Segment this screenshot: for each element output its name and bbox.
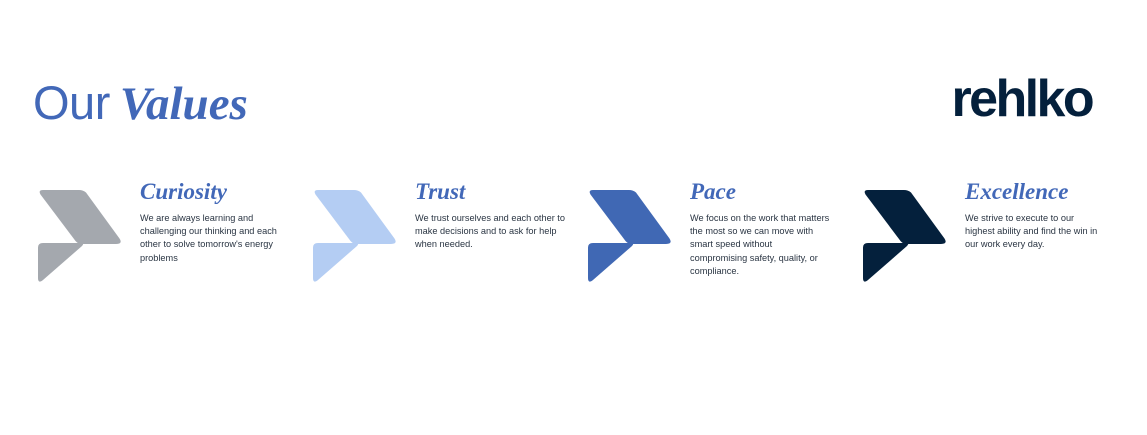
- value-title: Trust: [415, 178, 567, 205]
- value-text-trust: Trust We trust ourselves and each other …: [415, 178, 567, 252]
- value-description: We focus on the work that matters the mo…: [690, 212, 830, 278]
- values-list: Curiosity We are always learning and cha…: [0, 178, 1147, 298]
- page-title-emphasis: Values: [120, 78, 248, 130]
- value-description: We trust ourselves and each other to mak…: [415, 212, 567, 252]
- value-text-curiosity: Curiosity We are always learning and cha…: [140, 178, 292, 265]
- rehlko-chevron-icon: [580, 183, 676, 285]
- rehlko-chevron-icon: [30, 183, 126, 285]
- value-description: We are always learning and challenging o…: [140, 212, 292, 265]
- value-title: Pace: [690, 178, 830, 205]
- value-card-pace: Pace We focus on the work that matters t…: [572, 178, 847, 298]
- value-card-curiosity: Curiosity We are always learning and cha…: [22, 178, 297, 298]
- value-text-excellence: Excellence We strive to execute to our h…: [965, 178, 1105, 252]
- page-title-plain: Our: [33, 76, 110, 129]
- page-header: OurValues rehlko: [0, 0, 1147, 170]
- value-title: Curiosity: [140, 178, 292, 205]
- value-card-trust: Trust We trust ourselves and each other …: [297, 178, 572, 298]
- value-card-excellence: Excellence We strive to execute to our h…: [847, 178, 1122, 298]
- rehlko-chevron-icon: [305, 183, 401, 285]
- page-title: OurValues: [33, 74, 248, 133]
- value-text-pace: Pace We focus on the work that matters t…: [690, 178, 830, 278]
- rehlko-chevron-icon: [855, 183, 951, 285]
- rehlko-wordmark-logo: rehlko: [952, 71, 1092, 127]
- value-title: Excellence: [965, 178, 1105, 205]
- value-description: We strive to execute to our highest abil…: [965, 212, 1105, 252]
